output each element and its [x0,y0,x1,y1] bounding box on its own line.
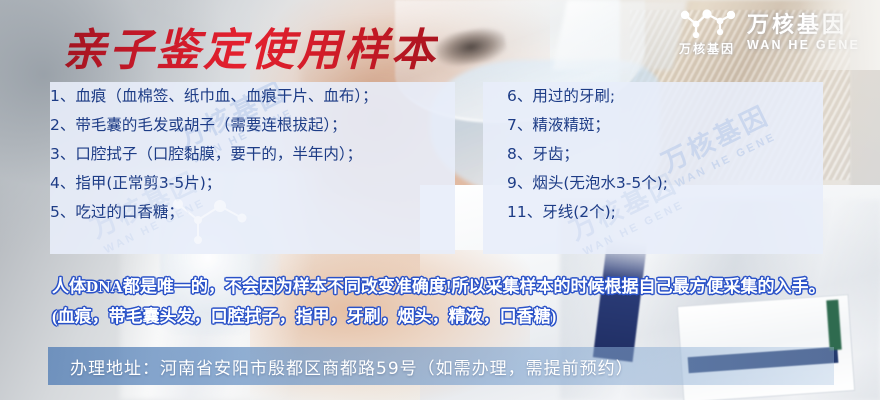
poster-canvas: 亲子鉴定使用样本 [0,0,880,400]
list-item: 8、牙齿； [507,140,823,169]
list-item: 5、吃过的口香糖； [50,198,455,227]
list-item: 4、指甲(正常剪3-5片)； [50,169,455,198]
sample-list-right: 6、用过的牙刷; 7、精液精斑； 8、牙齿； 9、烟头(无泡水3-5个); 11… [483,82,823,227]
sample-panel-left: 万核基因 WAN HE GENE 万核基因 WAN HE GENE 1、血痕（血… [50,82,455,254]
dna-note-text: 人体DNA都是唯一的，不会因为样本不同改变准确度!所以采集样本的时候根据自己最方… [52,272,842,332]
logo-name-cn: 万核基因 [747,13,860,36]
page-title: 亲子鉴定使用样本 [62,14,438,78]
logo-mark-label: 万核基因 [679,40,735,57]
sample-list-left: 1、血痕（血棉签、纸巾血、血痕干片、血布）； 2、带毛囊的毛发或胡子（需要连根拔… [50,82,455,227]
sample-panel-right: 万核基因 WAN HE GENE 万核基因 WAN HE GENE 6、用过的牙… [483,82,823,254]
address-band: 办理地址：河南省安阳市殷都区商都路59号（如需办理，需提前预约） [48,347,834,385]
list-item: 7、精液精斑； [507,111,823,140]
list-item: 2、带毛囊的毛发或胡子（需要连根拔起）； [50,111,455,140]
list-item: 3、口腔拭子（口腔黏膜，要干的，半年内）； [50,140,455,169]
list-item: 1、血痕（血棉签、纸巾血、血痕干片、血布）； [50,82,455,111]
list-item: 6、用过的牙刷; [507,82,823,111]
logo-wordmark: 万核基因 WAN HE GENE [747,13,860,52]
logo-name-en: WAN HE GENE [747,39,860,52]
list-item: 9、烟头(无泡水3-5个); [507,169,823,198]
address-text: 办理地址：河南省安阳市殷都区商都路59号（如需办理，需提前预约） [70,354,634,379]
logo-mark: 万核基因 [676,8,738,57]
list-item: 11、牙线(2个); [507,198,823,227]
molecule-icon [676,8,738,38]
brand-logo[interactable]: 万核基因 万核基因 WAN HE GENE [676,8,860,57]
